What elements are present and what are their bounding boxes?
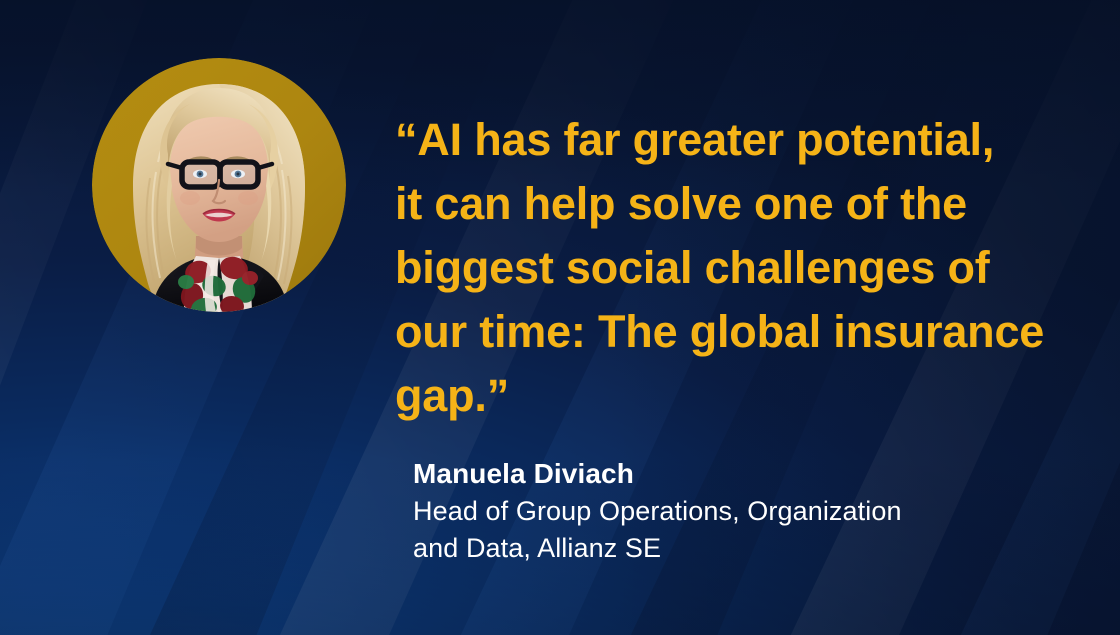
quote-text: “AI has far greater potential, it can he…: [395, 108, 1095, 428]
avatar: [92, 58, 346, 312]
quote-card: “AI has far greater potential, it can he…: [0, 0, 1120, 635]
glasses: [168, 162, 272, 187]
attribution-name: Manuela Diviach: [413, 455, 1103, 493]
attribution: Manuela Diviach Head of Group Operations…: [413, 455, 1103, 567]
attribution-role: Head of Group Operations, Organization a…: [413, 493, 1103, 567]
